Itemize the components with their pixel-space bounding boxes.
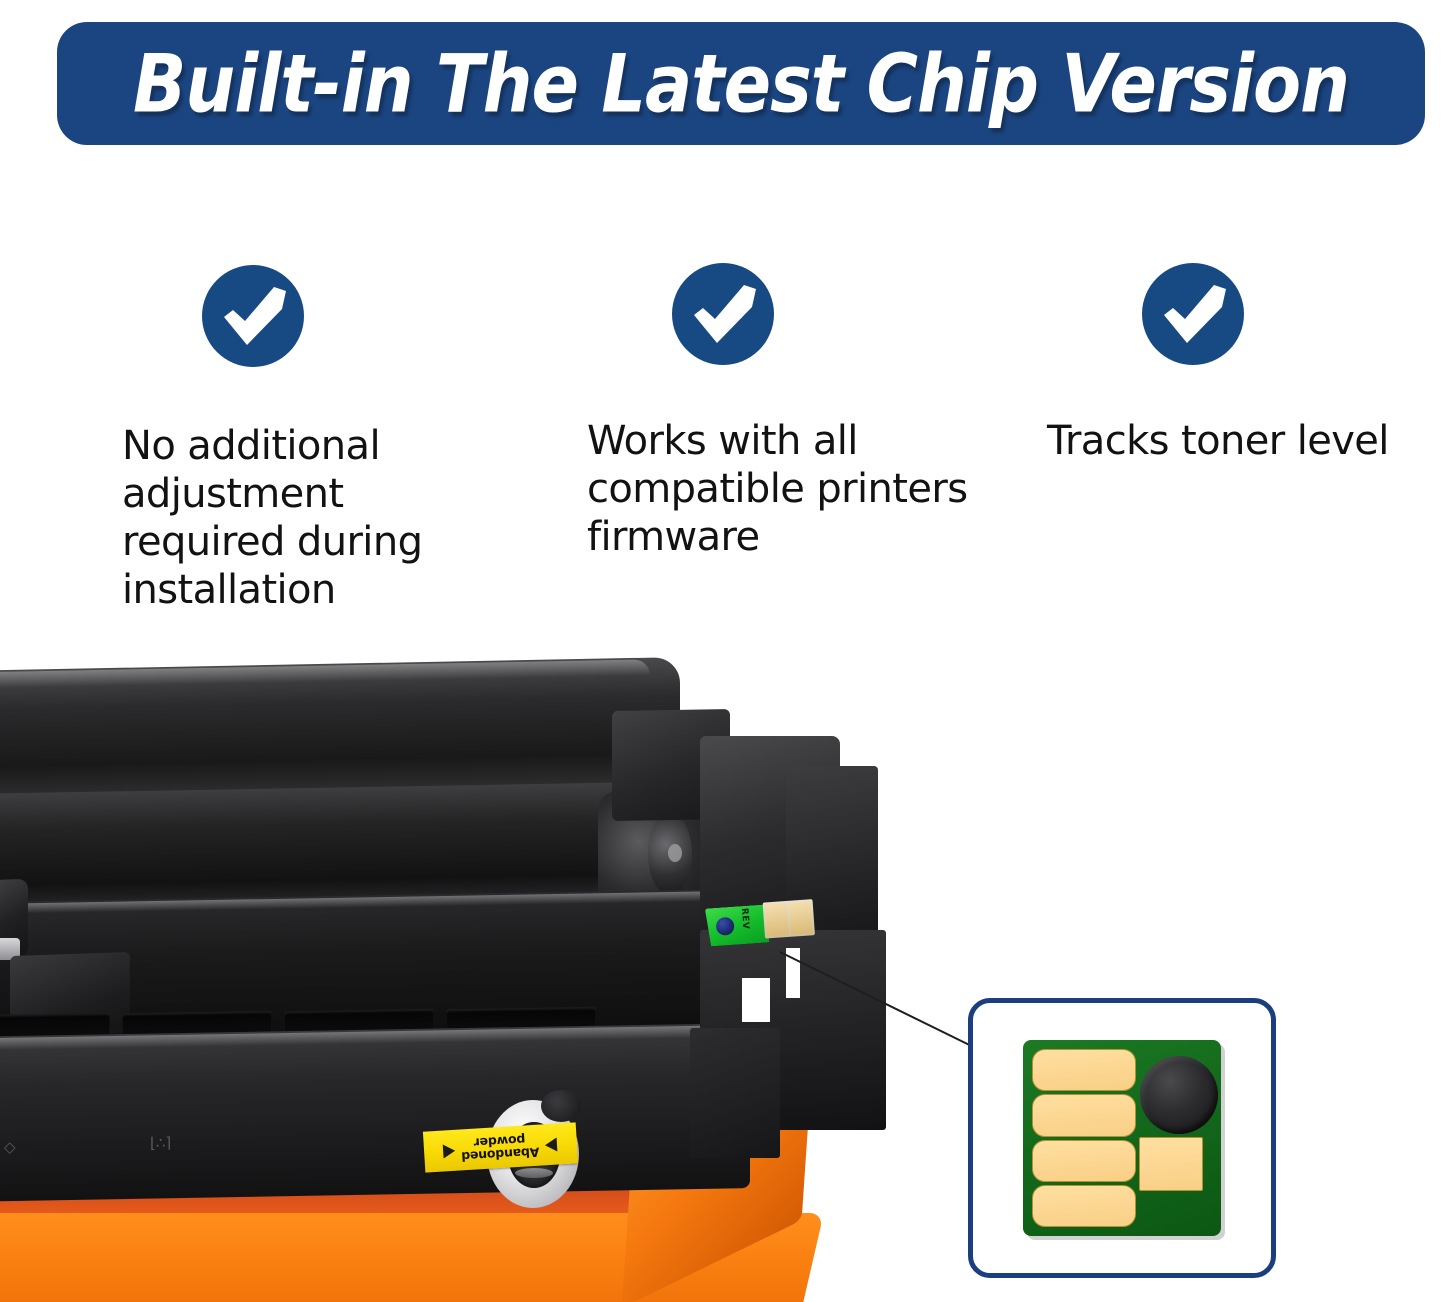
feature-item-1: No additional adjustment required during… (192, 265, 592, 614)
recycle-emboss-icon: ⌊∴⌉ (150, 1134, 171, 1152)
check-circle-icon (672, 263, 774, 365)
port-knob (541, 1090, 581, 1122)
port-thread (515, 1168, 553, 1178)
chip-contact-pad-group (1032, 1049, 1136, 1227)
chip-pad (765, 903, 789, 936)
check-circle-icon (1142, 263, 1244, 365)
chip-contact-pad (1032, 1185, 1136, 1227)
chip-pad (789, 901, 813, 934)
arrow-right-icon (443, 1143, 456, 1158)
chip-contact-pad (1032, 1049, 1136, 1091)
chip-pcb (705, 904, 769, 946)
chip-square-pad (1139, 1137, 1203, 1191)
endcap-notch (786, 948, 800, 998)
product-infographic: Built-in The Latest Chip Version No addi… (0, 0, 1445, 1302)
chip-callout-box (968, 998, 1276, 1278)
chip-contact-pad (1032, 1094, 1136, 1136)
banner-title: Built-in The Latest Chip Version (133, 44, 1349, 124)
check-circle-icon (202, 265, 304, 367)
feature-item-3: Tracks toner level (1132, 263, 1445, 465)
cartridge-endcap-foot (690, 1028, 780, 1158)
feature-item-2: Works with all compatible printers firmw… (662, 263, 1082, 561)
chip-label: REV (739, 908, 750, 930)
chip-contact-pads (763, 899, 815, 938)
drum-end-pin (668, 844, 682, 862)
feature-label-2: Works with all compatible printers firmw… (587, 417, 1007, 561)
chip-closeup (1023, 1040, 1221, 1236)
chip-contact-pad (1032, 1140, 1136, 1182)
feature-label-3: Tracks toner level (1047, 417, 1445, 465)
arrow-left-icon (545, 1137, 558, 1152)
endcap-notch (742, 978, 770, 1022)
warning-label-text: Abandoned powder (461, 1132, 540, 1163)
warning-line-2: powder (474, 1132, 526, 1150)
feature-label-1: No additional adjustment required during… (122, 422, 512, 614)
header-banner: Built-in The Latest Chip Version (57, 22, 1425, 145)
cartridge-chip: REV (705, 897, 812, 948)
embossed-mark-icon: ◇ (4, 1138, 16, 1156)
chip-epoxy-blob (1140, 1056, 1218, 1134)
cartridge-lower-shell (0, 1023, 750, 1202)
warning-label-content: Abandoned powder (443, 1131, 558, 1164)
